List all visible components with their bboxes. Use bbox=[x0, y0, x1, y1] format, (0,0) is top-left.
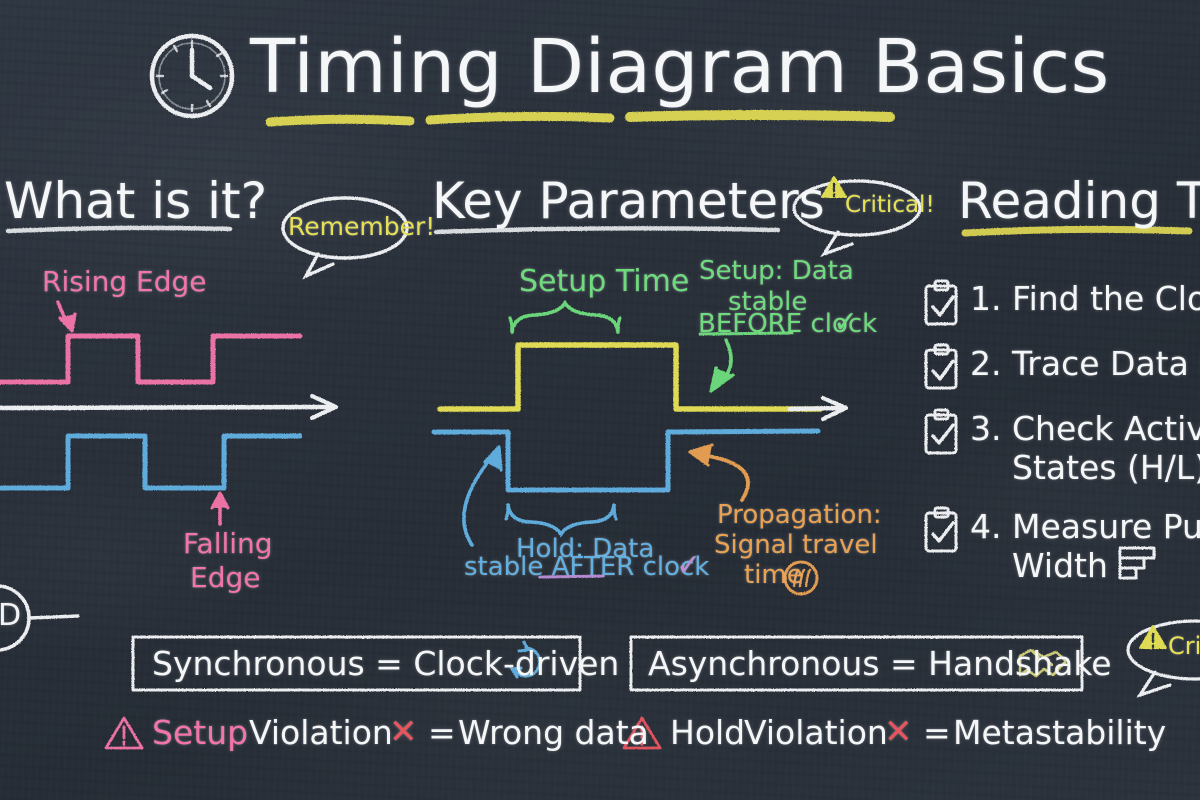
hold-violation-term: Hold bbox=[670, 713, 745, 752]
setup-violation-x-mark: ✕ bbox=[389, 712, 418, 752]
hold-note-check: ✓ bbox=[676, 548, 701, 583]
tip-1-number: 1. bbox=[970, 279, 1002, 318]
propagation-note-line1: Propagation: bbox=[717, 500, 882, 530]
setup-time-label: Setup Time bbox=[519, 264, 689, 299]
hold-violation-x-mark: ✕ bbox=[884, 712, 913, 752]
setup-note-check: ✓ bbox=[833, 305, 858, 340]
setup-violation-term: Setup bbox=[152, 713, 248, 752]
setup-note-line1: Setup: Data bbox=[699, 256, 854, 286]
flip-flop-d-label: D bbox=[0, 598, 21, 633]
hold-violation-equals: = bbox=[923, 713, 951, 752]
tip-4-text-line1: Measure Pulse bbox=[1012, 507, 1200, 546]
section-heading-key-parameters: Key Parameters bbox=[432, 172, 825, 230]
rising-edge-label: Rising Edge bbox=[42, 265, 207, 298]
tip-3-text-line2: States (H/L) bbox=[1012, 448, 1200, 487]
hold-violation-word: Violation bbox=[744, 713, 888, 752]
bubble-remember-label: Remember! bbox=[288, 212, 435, 241]
section-heading-what-is-it: What is it? bbox=[4, 172, 267, 230]
propagation-note-line2: Signal travel bbox=[714, 530, 878, 560]
tip-1-text: Find the Clock bbox=[1012, 279, 1200, 318]
setup-violation-result: Wrong data bbox=[458, 713, 649, 752]
tip-3-text-line1: Check Active bbox=[1012, 409, 1200, 448]
tip-2-number: 2. bbox=[970, 344, 1002, 383]
setup-violation-equals: = bbox=[428, 713, 456, 752]
bubble-critical-center-label: Critical! bbox=[845, 192, 935, 218]
asynchronous-box-label[interactable]: Asynchronous = Handshake bbox=[648, 644, 1112, 683]
page-title: Timing Diagram Basics bbox=[250, 24, 1110, 110]
tip-4-number: 4. bbox=[970, 507, 1002, 546]
tip-3-number: 3. bbox=[970, 409, 1002, 448]
setup-violation-word: Violation bbox=[249, 713, 393, 752]
synchronous-box-label[interactable]: Synchronous = Clock-driven bbox=[152, 644, 619, 683]
tip-2-text: Trace Data Pa bbox=[1012, 344, 1200, 383]
hold-violation-result: Metastability bbox=[953, 713, 1166, 752]
text-layer: Timing Diagram Basics What is it? Key Pa… bbox=[0, 0, 1200, 800]
bubble-critical-right-label: Cri bbox=[1168, 632, 1200, 660]
section-heading-reading-tips: Reading Tips bbox=[958, 172, 1200, 230]
hold-note-line2: stable AFTER clock bbox=[464, 552, 709, 582]
falling-edge-label-line1: Falling bbox=[183, 527, 273, 560]
tip-4-text-line2: Width bbox=[1012, 546, 1108, 585]
falling-edge-label-line2: Edge bbox=[190, 561, 260, 594]
propagation-note-line3: time bbox=[744, 560, 803, 590]
